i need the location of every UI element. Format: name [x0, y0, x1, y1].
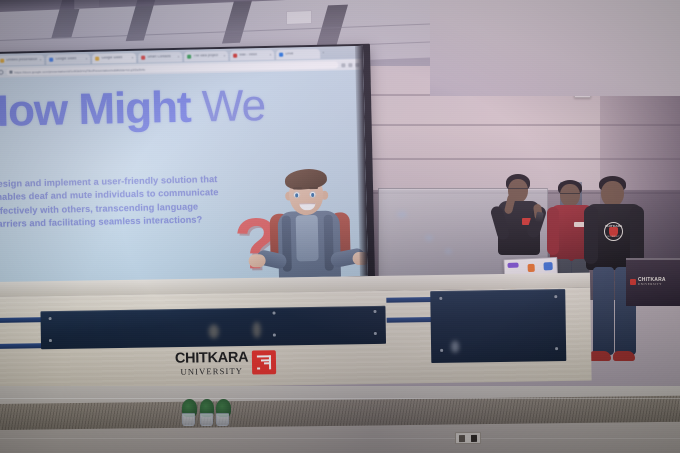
brand-name: CHITKARA — [175, 351, 249, 367]
right-podium: CHITKARA UNIVERSITY — [626, 258, 680, 306]
plant-pot — [216, 413, 229, 426]
arm-left — [584, 206, 598, 264]
lock-icon — [9, 70, 12, 74]
sticker — [543, 262, 552, 270]
favicon-icon — [279, 52, 283, 56]
browser-tab[interactable]: The Idea project × — [184, 50, 228, 61]
potted-plant — [182, 398, 197, 426]
tab-label: Drive — [285, 52, 293, 55]
sticker — [528, 264, 535, 272]
stage-navy-panel-right — [430, 289, 566, 363]
browser-tab-active[interactable]: Google Slides × — [92, 52, 136, 63]
profile-icon[interactable] — [348, 63, 352, 67]
chitkara-wordmark: CHITKARA UNIVERSITY — [175, 351, 249, 376]
stage-trim-mid-lower — [387, 317, 435, 323]
close-icon[interactable]: × — [269, 52, 271, 56]
crest-sub-text: UNIVERSITY — [605, 236, 622, 238]
tab-label: The Idea project — [193, 54, 218, 58]
chitkara-logo-icon-small — [630, 279, 636, 285]
favicon-icon — [49, 57, 53, 61]
potted-plant — [216, 399, 231, 426]
stage-navy-panel-main — [40, 306, 386, 349]
close-icon[interactable]: × — [39, 57, 41, 61]
slide-canvas: How Might We Design and implement a user… — [0, 70, 368, 284]
brand-sub: UNIVERSITY — [180, 366, 243, 376]
sticker — [507, 263, 518, 268]
stage-trim-mid — [386, 297, 434, 303]
reload-icon[interactable] — [0, 70, 3, 75]
favicon-icon — [141, 55, 145, 59]
crest-text: CHITKARA — [605, 224, 622, 228]
favicon-icon — [0, 58, 4, 62]
plant-pot — [182, 413, 195, 426]
chitkara-crest-logo: CHITKARA UNIVERSITY — [604, 222, 623, 241]
presentation-hall-photo: Untitled presentation × Google Slides × … — [0, 0, 680, 453]
favicon-icon — [187, 54, 191, 58]
tab-label: Mail - Inbox — [239, 53, 257, 57]
favicon-icon — [95, 56, 99, 60]
browser-tab[interactable]: Mail - Inbox × — [230, 49, 274, 60]
slide-title-light: We — [201, 81, 265, 131]
floor-seam — [0, 438, 680, 439]
cartoon-student-illustration: ? — [225, 166, 368, 284]
floor-power-outlet — [455, 432, 481, 444]
brand-sub: UNIVERSITY — [638, 283, 666, 286]
tab-label: Google Slides — [101, 56, 122, 60]
slide-title: How Might We — [0, 84, 266, 134]
close-icon[interactable]: × — [131, 55, 133, 59]
eyeglasses-icon — [508, 188, 528, 192]
browser-tab[interactable]: Untitled presentation × — [0, 54, 45, 65]
shoe-right-red — [613, 351, 635, 361]
arm-right — [630, 206, 644, 264]
tab-label: Google Slides — [55, 57, 76, 61]
shoe-left-red — [589, 351, 611, 361]
extensions-icon[interactable] — [341, 63, 345, 67]
url-text: https://docs.google.com/presentation/d/1… — [14, 67, 145, 74]
arm-left — [547, 207, 559, 255]
tab-label: Untitled presentation — [6, 58, 37, 62]
stage-front — [0, 273, 592, 390]
podium-wordmark: CHITKARA UNIVERSITY — [638, 278, 666, 286]
plant-pot — [200, 413, 213, 426]
slide-title-bold: How Might — [0, 83, 191, 137]
close-icon[interactable]: × — [85, 56, 87, 60]
browser-tab[interactable]: Drive — [276, 48, 320, 59]
new-tab-button[interactable]: + — [322, 52, 324, 55]
floor-seam — [0, 398, 680, 399]
chitkara-stage-logo: CHITKARA UNIVERSITY — [175, 350, 277, 376]
browser-tab[interactable]: Google Slides × — [46, 53, 90, 64]
screen-surface: Untitled presentation × Google Slides × … — [0, 46, 368, 284]
close-icon[interactable]: × — [223, 53, 225, 57]
browser-tab[interactable]: Smart Contacts × — [138, 51, 182, 62]
ceiling-right-section — [430, 0, 680, 96]
tab-label: Smart Contacts — [147, 55, 170, 59]
eyeglasses-icon — [560, 193, 580, 197]
slide-body-text: Design and implement a user-friendly sol… — [0, 173, 234, 232]
chitkara-podium-sign: CHITKARA UNIVERSITY — [630, 274, 676, 290]
leg-left — [593, 267, 614, 355]
chitkara-logo-icon — [252, 350, 276, 374]
close-icon[interactable]: × — [177, 54, 179, 58]
potted-plant — [200, 400, 214, 426]
projection-screen: Untitled presentation × Google Slides × … — [0, 44, 375, 290]
favicon-icon — [233, 53, 237, 57]
